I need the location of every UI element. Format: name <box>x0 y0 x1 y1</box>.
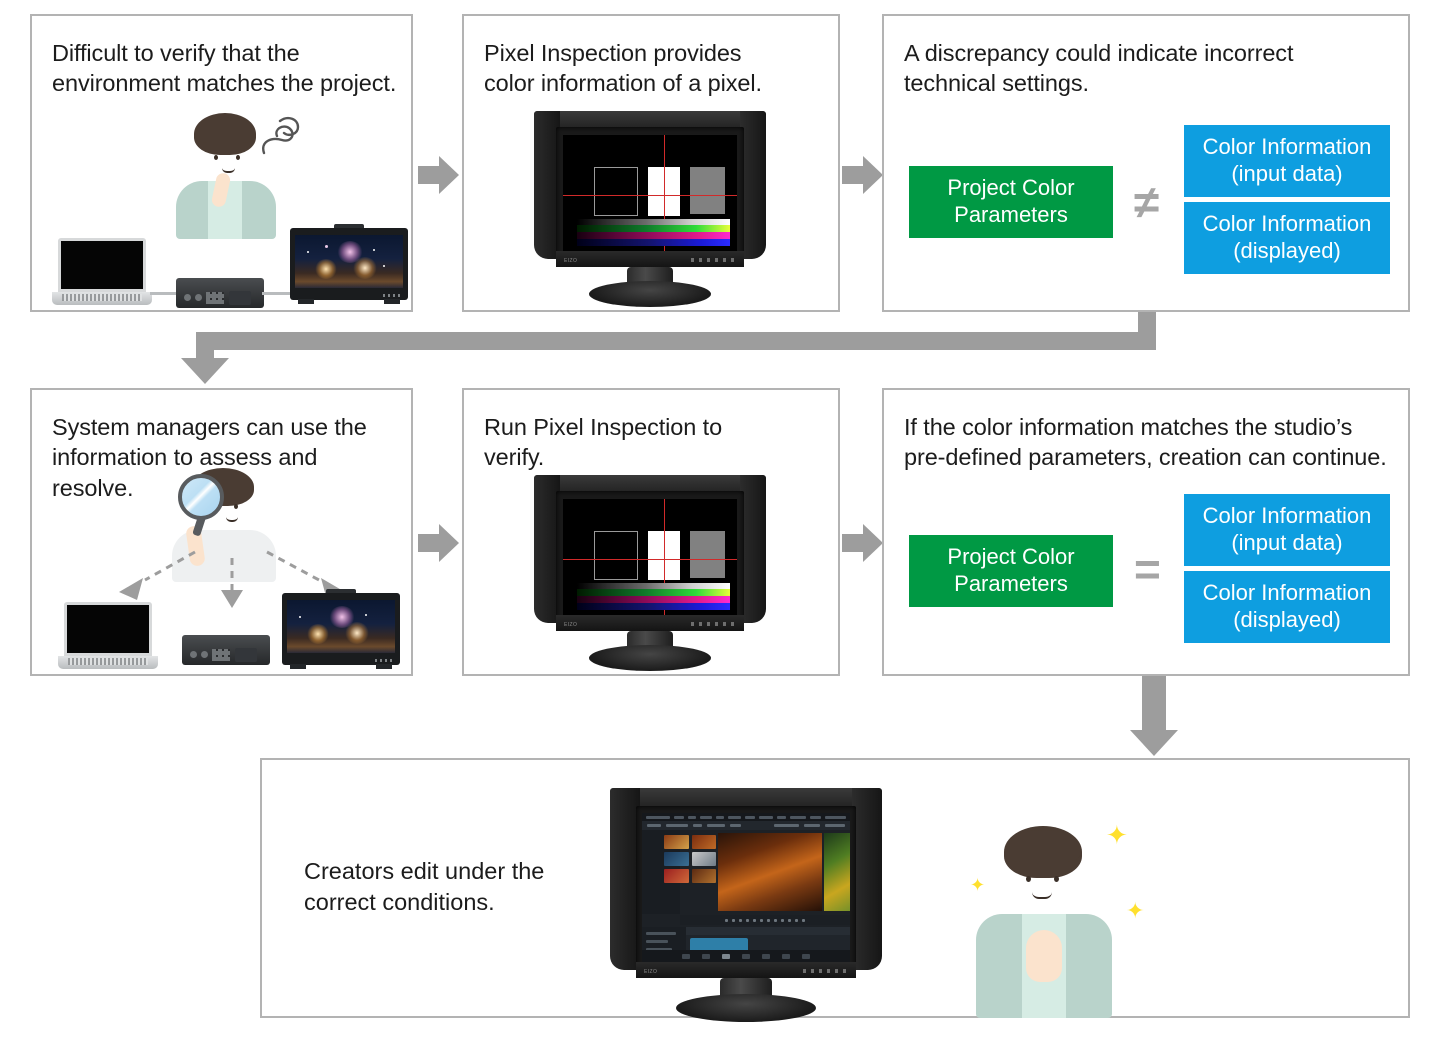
panel-3-text: A discrepancy could indicate incorrect t… <box>904 38 1394 99</box>
signal-device-illustration <box>176 278 264 308</box>
flow-arrow-panel2-to-panel3 <box>842 156 884 194</box>
laptop-illustration-row2 <box>58 602 158 669</box>
crosshair-horizontal <box>563 559 737 560</box>
sparkle-icon: ✦ <box>970 876 985 894</box>
thumbs-up-hand <box>1026 930 1062 982</box>
eizo-monitor-video-editing: EIZO <box>610 788 882 1020</box>
test-square-gray <box>690 531 725 577</box>
diagram-canvas: Difficult to verify that the environment… <box>0 0 1440 1040</box>
monitor-stand-base <box>589 281 711 307</box>
panel-difficult-to-verify: Difficult to verify that the environment… <box>30 14 413 312</box>
panel-discrepancy-indicates: A discrepancy could indicate incorrect t… <box>882 14 1410 312</box>
not-equal-operator: ≠ <box>1134 179 1159 225</box>
monitor-stand-base <box>589 645 711 671</box>
flow-arrow-panel5-to-panel6 <box>842 524 884 562</box>
monitor-control-keys[interactable] <box>691 258 734 262</box>
broadcast-monitor-illustration-row2 <box>282 593 400 665</box>
panel-pixel-inspection-provides: Pixel Inspection provides color informat… <box>462 14 840 312</box>
worried-person-illustration <box>152 111 302 236</box>
signal-device-illustration-row2 <box>182 635 270 665</box>
project-color-parameters-box-bottom: Project Color Parameters <box>909 535 1113 607</box>
color-gradient-bars <box>577 219 730 247</box>
eizo-logo: EIZO <box>564 258 577 264</box>
panel-5-text: Run Pixel Inspection to verify. <box>484 412 824 473</box>
editor-page-switcher[interactable] <box>642 950 850 962</box>
eizo-logo: EIZO <box>564 622 577 628</box>
monitor-chin: EIZO <box>556 251 744 267</box>
monitor-control-keys[interactable] <box>803 969 846 973</box>
happy-creator-illustration: ✦ ✦ ✦ <box>962 818 1172 1018</box>
editor-timeline-ruler[interactable] <box>686 927 850 935</box>
color-information-displayed-box-top: Color Information (displayed) <box>1184 202 1390 274</box>
cable-device-to-monitor <box>262 292 292 295</box>
laptop-illustration <box>52 238 152 305</box>
monitor-chin: EIZO <box>636 962 856 978</box>
color-information-displayed-box-bottom: Color Information (displayed) <box>1184 571 1390 643</box>
panel-system-managers: System managers can use the information … <box>30 388 413 676</box>
monitor-hood-right <box>852 788 882 970</box>
equals-operator: = <box>1134 546 1161 592</box>
monitor-bezel: EIZO <box>556 491 744 631</box>
video-editor-screen <box>642 813 850 962</box>
monitor-chin: EIZO <box>556 615 744 631</box>
flow-arrow-panel4-to-panel5 <box>418 524 460 562</box>
flow-connector-row1-to-row2 <box>196 312 1156 388</box>
monitor-bezel: EIZO <box>636 806 856 978</box>
video-editor-app <box>642 813 850 962</box>
test-square-gray <box>690 167 725 213</box>
crosshair-horizontal <box>563 195 737 196</box>
editor-source-viewer[interactable] <box>718 833 822 911</box>
magnifier-icon <box>178 474 224 520</box>
monitor-stand-base <box>676 994 816 1022</box>
test-square-outline <box>594 531 638 580</box>
panel-2-text: Pixel Inspection provides color informat… <box>484 38 824 99</box>
color-gradient-bars <box>577 583 730 611</box>
panel-creators-edit: Creators edit under the correct conditio… <box>260 758 1410 1018</box>
eizo-monitor-pixel-inspection-top: EIZO <box>534 111 766 306</box>
editor-timeline[interactable] <box>642 927 850 950</box>
monitor-screen <box>563 499 737 615</box>
editor-program-viewer[interactable] <box>824 833 850 911</box>
editor-track-headers[interactable] <box>642 927 686 950</box>
flow-arrow-panel1-to-panel2 <box>418 156 460 194</box>
monitor-control-keys[interactable] <box>691 622 734 626</box>
project-color-parameters-box-top: Project Color Parameters <box>909 166 1113 238</box>
editor-media-thumbnails[interactable] <box>664 835 716 883</box>
color-information-input-box-top: Color Information (input data) <box>1184 125 1390 197</box>
sparkle-icon: ✦ <box>1126 900 1144 922</box>
thinking-swirl-icon <box>256 107 304 157</box>
editor-menu-bar[interactable] <box>642 813 850 821</box>
sparkle-icon: ✦ <box>1106 822 1128 848</box>
flow-connector-row2-to-bottom <box>1124 676 1184 758</box>
panel-1-text: Difficult to verify that the environment… <box>52 38 397 99</box>
color-information-input-box-bottom: Color Information (input data) <box>1184 494 1390 566</box>
panel-color-information-matches: If the color information matches the stu… <box>882 388 1410 676</box>
panel-6-text: If the color information matches the stu… <box>904 412 1394 473</box>
panel-run-pixel-inspection: Run Pixel Inspection to verify. <box>462 388 840 676</box>
editor-toolbar[interactable] <box>642 821 850 830</box>
monitor-bezel: EIZO <box>556 127 744 267</box>
monitor-screen <box>563 135 737 251</box>
editor-transport-controls[interactable] <box>680 915 850 925</box>
test-square-outline <box>594 167 638 216</box>
eizo-monitor-pixel-inspection-bottom: EIZO <box>534 475 766 670</box>
eizo-logo: EIZO <box>644 969 657 975</box>
broadcast-monitor-illustration <box>290 228 408 300</box>
